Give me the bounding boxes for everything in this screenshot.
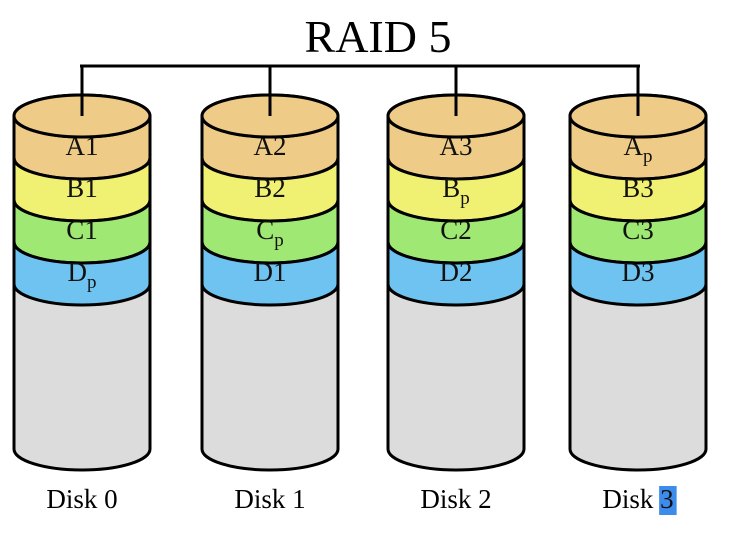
stripe-label-base: D (440, 257, 460, 287)
stripe-label-index: 2 (458, 215, 472, 245)
stripe-label-index: 3 (641, 257, 655, 287)
stripe-label-index: 1 (84, 215, 98, 245)
stripe-label-0-1: B1 (66, 173, 98, 203)
stripe-label-2-2: C2 (440, 215, 472, 245)
stripe-label-base: C (440, 215, 458, 245)
stripe-label-index: 2 (459, 257, 473, 287)
stripe-label-base: C (66, 215, 84, 245)
stripe-label-base: D (68, 257, 88, 287)
stripe-label-index: 3 (640, 215, 654, 245)
stripe-label-1-3: D1 (254, 257, 287, 287)
stripe-label-parity-subscript: p (87, 272, 97, 293)
disk-caption-0: Disk 0 (46, 484, 117, 514)
stripe-label-parity-subscript: p (643, 146, 653, 167)
stripe-label-base: B (254, 173, 272, 203)
stripe-label-base: B (66, 173, 84, 203)
raid5-diagram-canvas: RAID 5 A1B1C1DpA2B2CpD1A3BpC2D2ApB3C3D3 … (0, 0, 756, 548)
stripe-label-3-2: C3 (622, 215, 654, 245)
disk-cylinder-2[interactable]: A3BpC2D2 (388, 91, 524, 470)
disk-caption-3: Disk 3 (602, 484, 673, 514)
stripe-label-index: 3 (640, 173, 654, 203)
stripe-label-base: C (622, 215, 640, 245)
disk-cylinder-3[interactable]: ApB3C3D3 (570, 91, 706, 470)
stripe-label-parity-subscript: p (460, 188, 470, 209)
stripe-label-2-3: D2 (440, 257, 473, 287)
stripe-label-base: C (256, 215, 274, 245)
stripe-label-3-3: D3 (622, 257, 655, 287)
stripe-label-base: B (442, 173, 460, 203)
stripe-label-base: D (254, 257, 274, 287)
disk-caption-2: Disk 2 (420, 484, 491, 514)
stripe-label-0-2: C1 (66, 215, 98, 245)
disk-cylinder-1[interactable]: A2B2CpD1 (202, 91, 338, 470)
stripe-label-3-1: B3 (622, 173, 654, 203)
stripe-label-base: D (622, 257, 642, 287)
stripe-label-base: B (622, 173, 640, 203)
stripe-label-1-1: B2 (254, 173, 286, 203)
stripe-label-index: 1 (84, 173, 98, 203)
disk-caption-selected-text: 3 (660, 484, 674, 514)
disk-caption-1: Disk 1 (234, 484, 305, 514)
stripe-label-index: 2 (272, 173, 286, 203)
stripe-label-index: 1 (273, 257, 287, 287)
page-title: RAID 5 (305, 11, 452, 62)
raid5-diagram: RAID 5 A1B1C1DpA2B2CpD1A3BpC2D2ApB3C3D3 … (0, 0, 756, 548)
disk-caption-text: Disk (602, 484, 660, 514)
disk-cylinder-0[interactable]: A1B1C1Dp (14, 91, 150, 470)
stripe-label-parity-subscript: p (274, 230, 284, 251)
